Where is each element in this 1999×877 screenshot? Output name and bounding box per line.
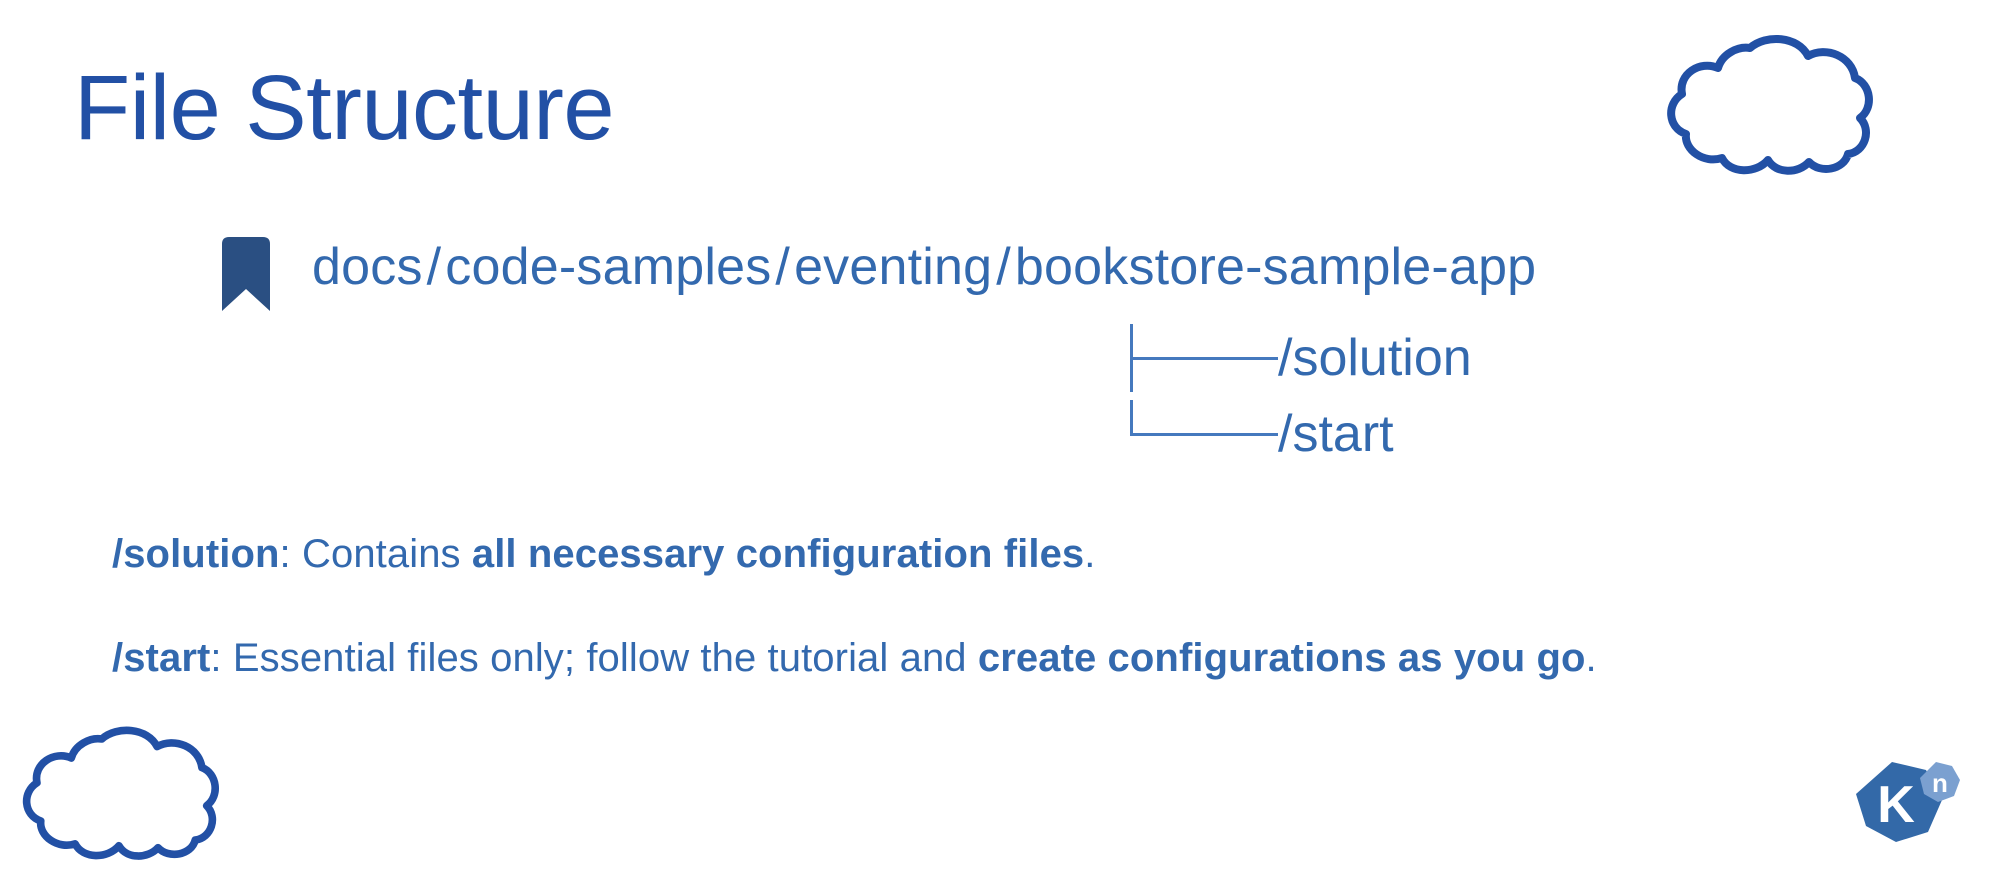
description-colon: :: [280, 532, 302, 576]
breadcrumb-separator: /: [992, 238, 1015, 296]
knative-logo: K n: [1848, 756, 1966, 860]
page-title: File Structure: [74, 60, 614, 157]
slide-canvas: File Structure docs/code-samples/eventin…: [0, 0, 1999, 877]
breadcrumb: docs/code-samples/eventing/bookstore-sam…: [312, 238, 1536, 298]
description-text-after: .: [1586, 636, 1597, 680]
cloud-icon: [1658, 26, 1876, 176]
breadcrumb-segment-eventing: eventing: [794, 238, 992, 296]
tree-branch-tee-icon: [1130, 318, 1280, 398]
description-emphasis: create configurations as you go: [978, 636, 1586, 680]
cloud-icon: [14, 718, 222, 861]
knative-k-letter: K: [1877, 776, 1915, 834]
description-term-solution: /solution: [112, 532, 280, 576]
description-solution: /solution: Contains all necessary config…: [112, 530, 1096, 578]
breadcrumb-segment-bookstore-sample-app: bookstore-sample-app: [1015, 238, 1536, 296]
description-term-start: /start: [112, 636, 210, 680]
tree-item-start: /start: [1130, 394, 1394, 474]
description-emphasis: all necessary configuration files: [472, 532, 1084, 576]
tree-item-label-start: /start: [1278, 408, 1394, 460]
breadcrumb-separator: /: [771, 238, 794, 296]
knative-n-letter: n: [1932, 768, 1948, 798]
tree-item-solution: /solution: [1130, 318, 1472, 398]
description-text-before: Essential files only; follow the tutoria…: [233, 636, 978, 680]
bookmark-icon: [218, 236, 274, 312]
description-colon: :: [210, 636, 232, 680]
tree-branch-elbow-icon: [1130, 394, 1280, 474]
description-text-before: Contains: [302, 532, 472, 576]
description-start: /start: Essential files only; follow the…: [112, 634, 1597, 682]
breadcrumb-separator: /: [423, 238, 446, 296]
breadcrumb-segment-docs: docs: [312, 238, 423, 296]
breadcrumb-segment-code-samples: code-samples: [445, 238, 771, 296]
description-text-after: .: [1084, 532, 1095, 576]
tree-item-label-solution: /solution: [1278, 332, 1472, 384]
